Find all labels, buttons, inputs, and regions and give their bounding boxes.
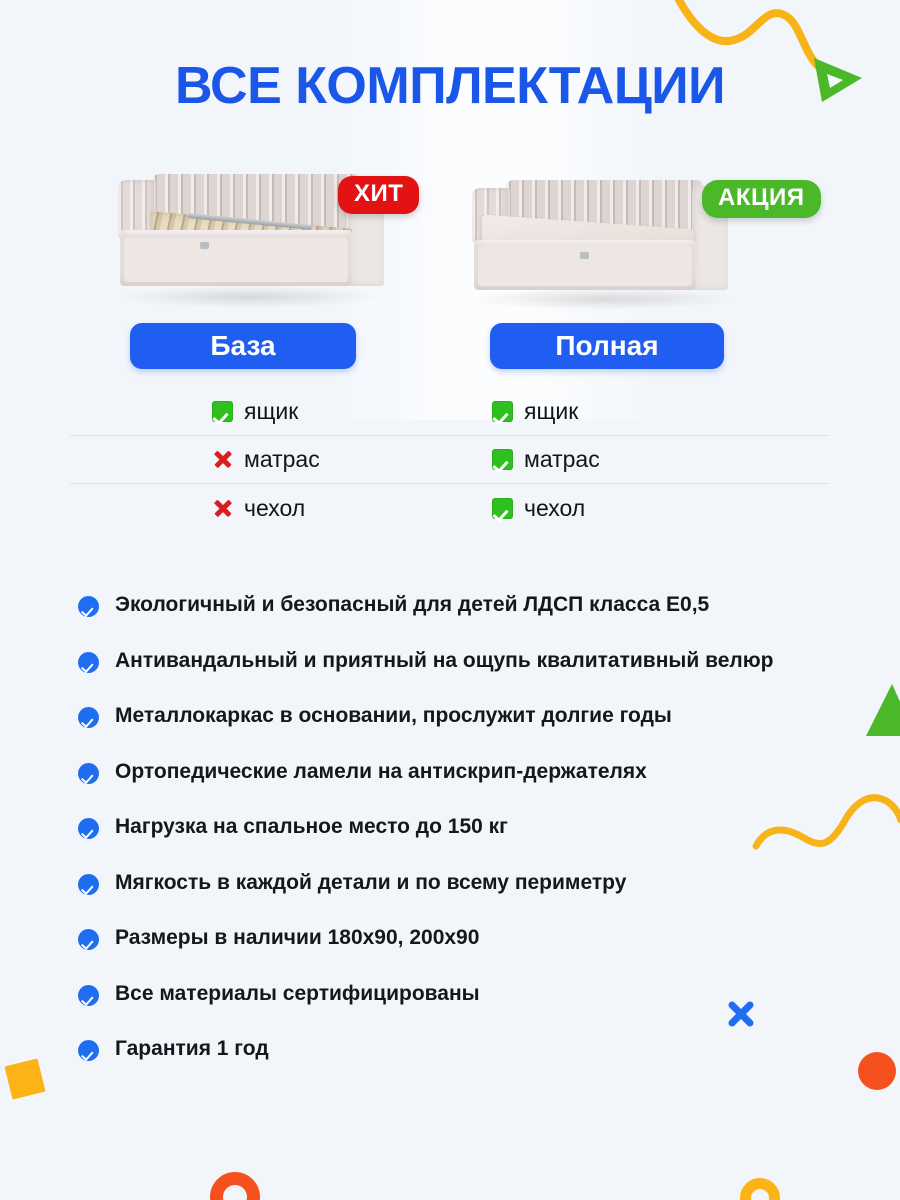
table-row: чехол чехол: [70, 484, 830, 532]
feature-text: Ортопедические ламели на антискрип-держа…: [115, 759, 647, 785]
cell-label: матрас: [524, 446, 600, 473]
badge-hit: ХИТ: [338, 176, 419, 214]
feature-text: Гарантия 1 год: [115, 1036, 269, 1062]
ring-yellow-decoration: [740, 1178, 780, 1200]
check-circle-icon: [78, 985, 99, 1006]
cell-full-mattress: матрас: [428, 446, 830, 473]
feature-text: Металлокаркас в основании, прослужит дол…: [115, 703, 672, 729]
check-icon: [492, 449, 513, 470]
plan-button-full[interactable]: Полная: [490, 323, 724, 369]
product-comparison-columns: ХИТ База АКЦИЯ Полная: [0, 168, 900, 378]
cell-full-cover: чехол: [428, 495, 830, 522]
feature-text: Экологичный и безопасный для детей ЛДСП …: [115, 592, 709, 618]
check-circle-icon: [78, 596, 99, 617]
feature-text: Нагрузка на спальное место до 150 кг: [115, 814, 508, 840]
check-icon: [492, 498, 513, 519]
list-item: Мягкость в каждой детали и по всему пери…: [78, 870, 878, 926]
cell-label: ящик: [244, 398, 298, 425]
table-row: ящик ящик: [70, 388, 830, 436]
ring-orange-decoration: [210, 1172, 260, 1200]
page-title: ВСЕ КОМПЛЕКТАЦИИ: [0, 56, 900, 116]
list-item: Антивандальный и приятный на ощупь квали…: [78, 648, 878, 704]
product-column-base: ХИТ База: [102, 168, 442, 378]
cross-icon: [212, 449, 233, 470]
check-circle-icon: [78, 1040, 99, 1061]
badge-promo: АКЦИЯ: [702, 180, 821, 218]
cell-base-mattress: матрас: [70, 446, 428, 473]
cell-label: чехол: [244, 495, 305, 522]
check-circle-icon: [78, 652, 99, 673]
list-item: Экологичный и безопасный для детей ЛДСП …: [78, 592, 878, 648]
bed-image-full: АКЦИЯ: [450, 168, 790, 308]
table-row: матрас матрас: [70, 436, 830, 484]
check-circle-icon: [78, 763, 99, 784]
cell-label: чехол: [524, 495, 585, 522]
check-circle-icon: [78, 818, 99, 839]
list-item: Все материалы сертифицированы: [78, 981, 878, 1037]
cross-icon: [212, 498, 233, 519]
cell-base-drawer: ящик: [70, 398, 428, 425]
check-icon: [492, 401, 513, 422]
check-icon: [212, 401, 233, 422]
cell-full-drawer: ящик: [428, 398, 830, 425]
list-item: Гарантия 1 год: [78, 1036, 878, 1092]
cell-label: матрас: [244, 446, 320, 473]
cell-label: ящик: [524, 398, 578, 425]
check-circle-icon: [78, 874, 99, 895]
check-circle-icon: [78, 707, 99, 728]
check-circle-icon: [78, 929, 99, 950]
list-item: Размеры в наличии 180x90, 200x90: [78, 925, 878, 981]
plan-button-base[interactable]: База: [130, 323, 356, 369]
infographic-page: ВСЕ КОМПЛЕКТАЦИИ ХИТ База: [0, 0, 900, 1200]
list-item: Нагрузка на спальное место до 150 кг: [78, 814, 878, 870]
bed-image-base: ХИТ: [102, 168, 442, 308]
feature-text: Все материалы сертифицированы: [115, 981, 480, 1007]
cell-base-cover: чехол: [70, 495, 428, 522]
feature-text: Антивандальный и приятный на ощупь квали…: [115, 648, 774, 674]
feature-text: Мягкость в каждой детали и по всему пери…: [115, 870, 626, 896]
list-item: Ортопедические ламели на антискрип-держа…: [78, 759, 878, 815]
list-item: Металлокаркас в основании, прослужит дол…: [78, 703, 878, 759]
comparison-table: ящик ящик матрас матрас чехол: [70, 388, 830, 532]
feature-list: Экологичный и безопасный для детей ЛДСП …: [78, 592, 878, 1092]
product-column-full: АКЦИЯ Полная: [450, 168, 790, 378]
square-decoration: [4, 1058, 45, 1099]
feature-text: Размеры в наличии 180x90, 200x90: [115, 925, 479, 951]
